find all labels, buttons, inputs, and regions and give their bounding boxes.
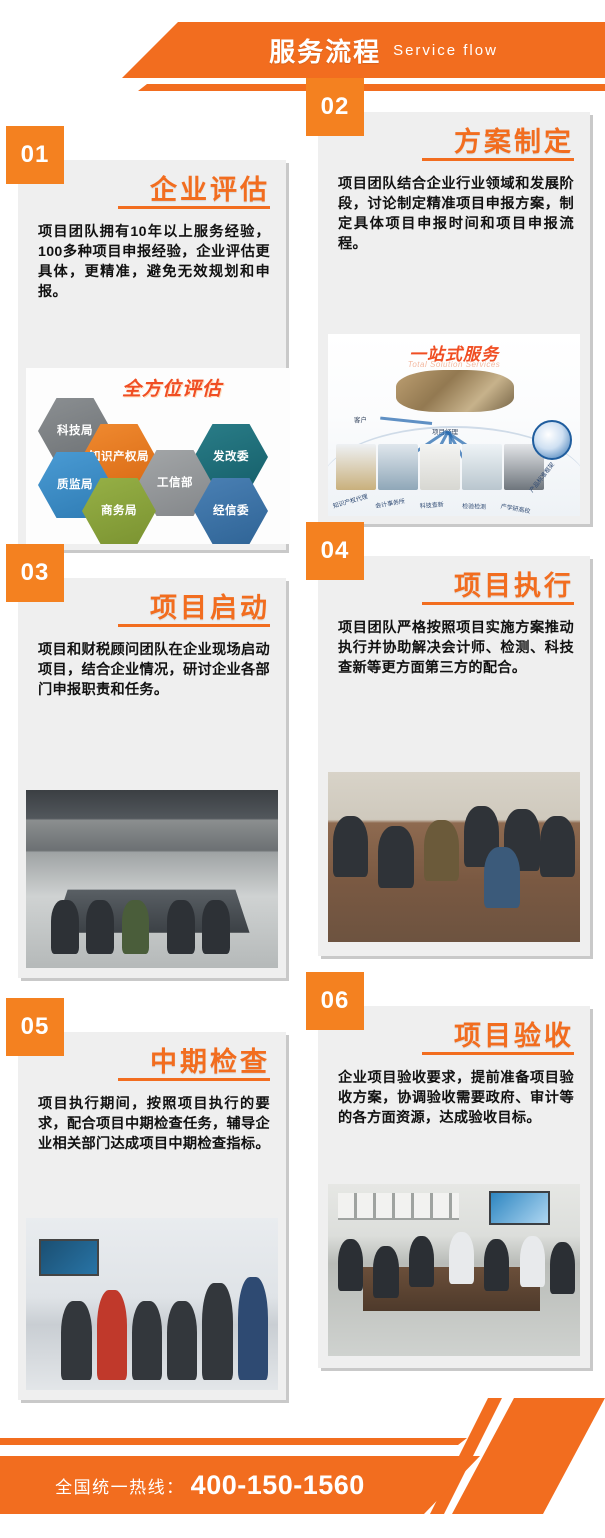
step-body-01: 项目团队拥有10年以上服务经验，100多种项目申报经验，企业评估更具体，更精准，…: [38, 222, 270, 303]
step-title-02: 方案制定: [454, 120, 574, 159]
step-number-badge-06: 06: [306, 972, 364, 1030]
arrow-to-customer: [380, 417, 432, 425]
step-title-04: 项目执行: [454, 564, 574, 603]
hotline-group: 全国统一热线： 400-150-1560: [0, 1456, 420, 1514]
onestop-cell-3: [420, 444, 460, 490]
title-underline-03: [118, 624, 270, 627]
onestop-subtitle: Total Solution Services: [328, 360, 580, 369]
step-number-badge-04: 04: [306, 522, 364, 580]
step-number-badge-03: 03: [6, 544, 64, 602]
step-card-02[interactable]: 02 方案制定 项目团队结合企业行业领域和发展阶段，讨论制定精准项目申报方案，制…: [318, 112, 590, 524]
onestop-caption-4: 检验检测: [462, 501, 486, 511]
footer-accent-line: [0, 1438, 467, 1445]
step-body-03: 项目和财税顾问团队在企业现场启动项目，结合企业情况，研讨企业各部门申报职责和任务…: [38, 640, 270, 700]
header-title-group: 服务流程 Service flow: [122, 22, 605, 78]
step-title-03: 项目启动: [150, 586, 270, 625]
step-body-02: 项目团队结合企业行业领域和发展阶段，讨论制定精准项目申报方案，制定具体项目申报时…: [338, 174, 574, 255]
step-number-badge-01: 01: [6, 126, 64, 184]
step-number-badge-05: 05: [6, 998, 64, 1056]
title-underline-06: [422, 1052, 574, 1055]
header-accent-line: [138, 84, 605, 91]
step-card-05[interactable]: 05 中期检查 项目执行期间，按照项目执行的要求，配合项目中期检查任务，辅导企业…: [18, 1032, 286, 1400]
title-underline-01: [118, 206, 270, 209]
header-banner: 服务流程 Service flow: [122, 22, 605, 78]
step-title-01: 企业评估: [150, 168, 270, 207]
onestop-team-photo: [396, 370, 514, 412]
onestop-node-customer: 客户: [354, 414, 367, 424]
page-footer: 全国统一热线： 400-150-1560: [0, 1398, 605, 1538]
step-body-05: 项目执行期间，按照项目执行的要求，配合项目中期检查任务，辅导企业相关部门达成项目…: [38, 1094, 270, 1154]
step-title-05: 中期检查: [150, 1040, 270, 1079]
photo-midterm-inspection: [26, 1218, 278, 1390]
step-card-01[interactable]: 01 企业评估 项目团队拥有10年以上服务经验，100多种项目申报经验，企业评估…: [18, 160, 286, 550]
photo-project-execution: [328, 772, 580, 942]
photo-project-kickoff: [26, 790, 278, 968]
hex-diagram-title: 全方位评估: [122, 374, 222, 401]
title-underline-04: [422, 602, 574, 605]
service-flow-poster: 服务流程 Service flow 01 企业评估 项目团队拥有10年以上服务经…: [0, 0, 605, 1538]
title-underline-02: [422, 158, 574, 161]
onestop-cell-2: [378, 444, 418, 490]
step-card-03[interactable]: 03 项目启动 项目和财税顾问团队在企业现场启动项目，结合企业情况，研讨企业各部…: [18, 578, 286, 978]
hotline-number[interactable]: 400-150-1560: [191, 1470, 365, 1501]
hotline-label: 全国统一热线：: [55, 1473, 185, 1498]
onestop-cell-4: [462, 444, 502, 490]
step-card-04[interactable]: 04 项目执行 项目团队严格按照项目实施方案推动执行并协助解决会计师、检测、科技…: [318, 556, 590, 956]
page-header: 服务流程 Service flow: [0, 0, 605, 100]
photo-project-acceptance: [328, 1184, 580, 1356]
step-card-06[interactable]: 06 项目验收 企业项目验收要求，提前准备项目验收方案，协调验收需要政府、审计等…: [318, 1006, 590, 1368]
onestop-certification-seal: [532, 420, 572, 460]
onestop-service-diagram: 一站式服务 Total Solution Services 客户 项目经理 知: [328, 334, 580, 516]
assessment-hex-diagram: 全方位评估 科技局 知识产权局 发改委 质监局 工信部 商务局 经信委: [26, 368, 290, 544]
page-title: 服务流程: [269, 32, 381, 69]
title-underline-05: [118, 1078, 270, 1081]
step-title-06: 项目验收: [454, 1014, 574, 1053]
step-body-06: 企业项目验收要求，提前准备项目验收方案，协调验收需要政府、审计等的各方面资源，达…: [338, 1068, 574, 1128]
step-number-badge-02: 02: [306, 78, 364, 136]
page-subtitle: Service flow: [393, 42, 498, 59]
step-body-04: 项目团队严格按照项目实施方案推动执行并协助解决会计师、检测、科技查新等更方面第三…: [338, 618, 574, 678]
onestop-caption-3: 科技查新: [419, 499, 444, 510]
onestop-cell-1: [336, 444, 376, 490]
